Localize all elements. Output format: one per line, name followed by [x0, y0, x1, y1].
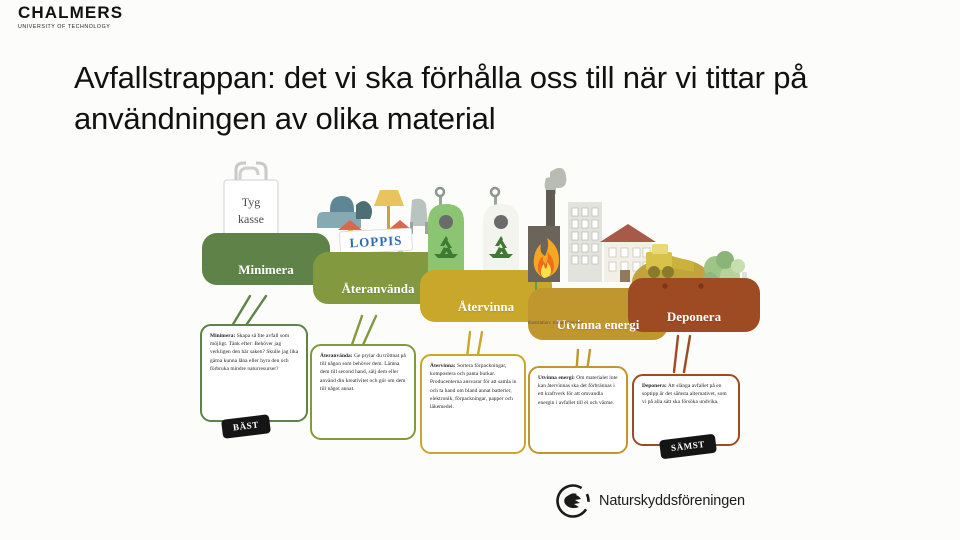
- worst-tag-label: SÄMST: [670, 439, 705, 453]
- loppis-sign-icon: LOPPIS: [317, 190, 428, 258]
- callout-heading-deponera: Deponera:: [642, 383, 667, 389]
- callout-utvinna-energi: Utvinna energi: Om materialet inte kan å…: [528, 366, 628, 454]
- chalmers-wordmark: CHALMERS: [18, 4, 128, 22]
- svg-text:Tyg: Tyg: [242, 195, 261, 209]
- best-tag-label: BÄST: [232, 419, 259, 432]
- step-label-atervinna: Återvinna: [458, 299, 514, 315]
- step-minimera[interactable]: Minimera: [202, 233, 330, 285]
- tote-bag-icon: Tyg kasse: [224, 163, 278, 242]
- svg-text:LOPPIS: LOPPIS: [349, 233, 403, 251]
- chalmers-logo: CHALMERS UNIVERSITY OF TECHNOLOGY: [18, 4, 128, 30]
- svg-text:kasse: kasse: [238, 212, 264, 226]
- falcon-circle-icon: [556, 484, 590, 518]
- step-deponera[interactable]: Deponera: [628, 278, 760, 332]
- illustrator-credit: Illustration: Sofia Liljander: [528, 320, 583, 325]
- callout-atervinna: Återvinna: Sortera förpackningar, kompos…: [420, 354, 526, 454]
- callout-heading-atervinna: Återvinna:: [430, 363, 456, 369]
- page-title: Avfallstrappan: det vi ska förhålla oss …: [74, 57, 934, 139]
- step-label-minimera: Minimera: [238, 262, 294, 278]
- step-label-ateranvanda: Återanvända: [342, 281, 415, 297]
- callout-minimera: Minimera: Skapa så lite avfall som möjli…: [200, 324, 308, 422]
- chalmers-tagline: UNIVERSITY OF TECHNOLOGY: [18, 24, 130, 30]
- naturskyddsforeningen-label: Naturskyddsföreningen: [599, 493, 745, 509]
- callout-ateranvanda: Återanvända: Ge prylar du tröttnat på ti…: [310, 344, 416, 440]
- callout-heading-ateranvanda: Återanvända:: [320, 353, 353, 359]
- callout-deponera: Deponera: Att slänga avfallet på en sopt…: [632, 374, 740, 446]
- callout-body-atervinna: Sortera förpackningar, kompostera och pa…: [430, 363, 517, 410]
- step-label-deponera: Deponera: [667, 309, 721, 325]
- callout-heading-minimera: Minimera:: [210, 333, 235, 339]
- naturskyddsforeningen-logo: Naturskyddsföreningen: [556, 484, 745, 518]
- callout-heading-utvinna-energi: Utvinna energi:: [538, 375, 575, 381]
